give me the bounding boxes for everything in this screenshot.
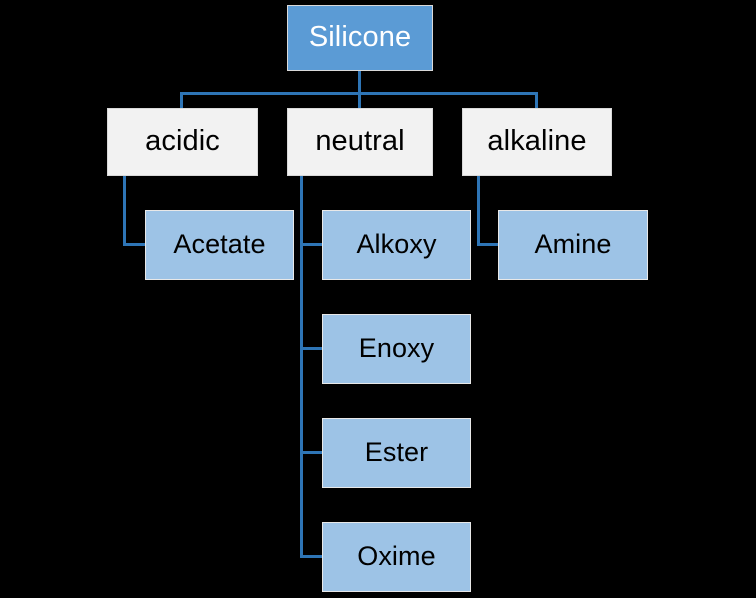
connector-drop-neutral: [358, 92, 361, 109]
connector-alkaline-amine: [477, 243, 500, 246]
connector-layer: [0, 0, 756, 598]
node-alkoxy-label: Alkoxy: [356, 230, 436, 260]
node-acetate-label: Acetate: [173, 230, 265, 260]
connector-neutral-alkoxy: [300, 243, 324, 246]
connector-neutral-oxime: [300, 555, 324, 558]
node-acidic-label: acidic: [145, 126, 220, 158]
connector-neutral-spine: [300, 175, 303, 558]
node-oxime-label: Oxime: [357, 542, 436, 572]
node-amine-label: Amine: [534, 230, 611, 260]
connector-neutral-enoxy: [300, 347, 324, 350]
node-silicone[interactable]: Silicone: [287, 5, 433, 71]
node-oxime[interactable]: Oxime: [322, 522, 471, 592]
node-amine[interactable]: Amine: [498, 210, 648, 280]
connector-root-stem: [358, 70, 361, 94]
connector-acidic-spine: [123, 175, 126, 246]
node-enoxy[interactable]: Enoxy: [322, 314, 471, 384]
connector-neutral-ester: [300, 451, 324, 454]
node-enoxy-label: Enoxy: [359, 334, 435, 364]
connector-drop-acidic: [180, 92, 183, 109]
node-ester[interactable]: Ester: [322, 418, 471, 488]
node-ester-label: Ester: [365, 438, 429, 468]
node-alkaline[interactable]: alkaline: [462, 108, 612, 176]
node-silicone-label: Silicone: [309, 22, 411, 54]
node-alkoxy[interactable]: Alkoxy: [322, 210, 471, 280]
connector-drop-alkaline: [535, 92, 538, 109]
diagram-canvas: Silicone acidic neutral alkaline Acetate…: [0, 0, 756, 598]
node-neutral-label: neutral: [315, 126, 404, 158]
node-acetate[interactable]: Acetate: [145, 210, 294, 280]
node-alkaline-label: alkaline: [487, 126, 586, 158]
connector-alkaline-spine: [477, 175, 480, 246]
connector-acidic-acetate: [123, 243, 147, 246]
node-neutral[interactable]: neutral: [287, 108, 433, 176]
node-acidic[interactable]: acidic: [107, 108, 258, 176]
